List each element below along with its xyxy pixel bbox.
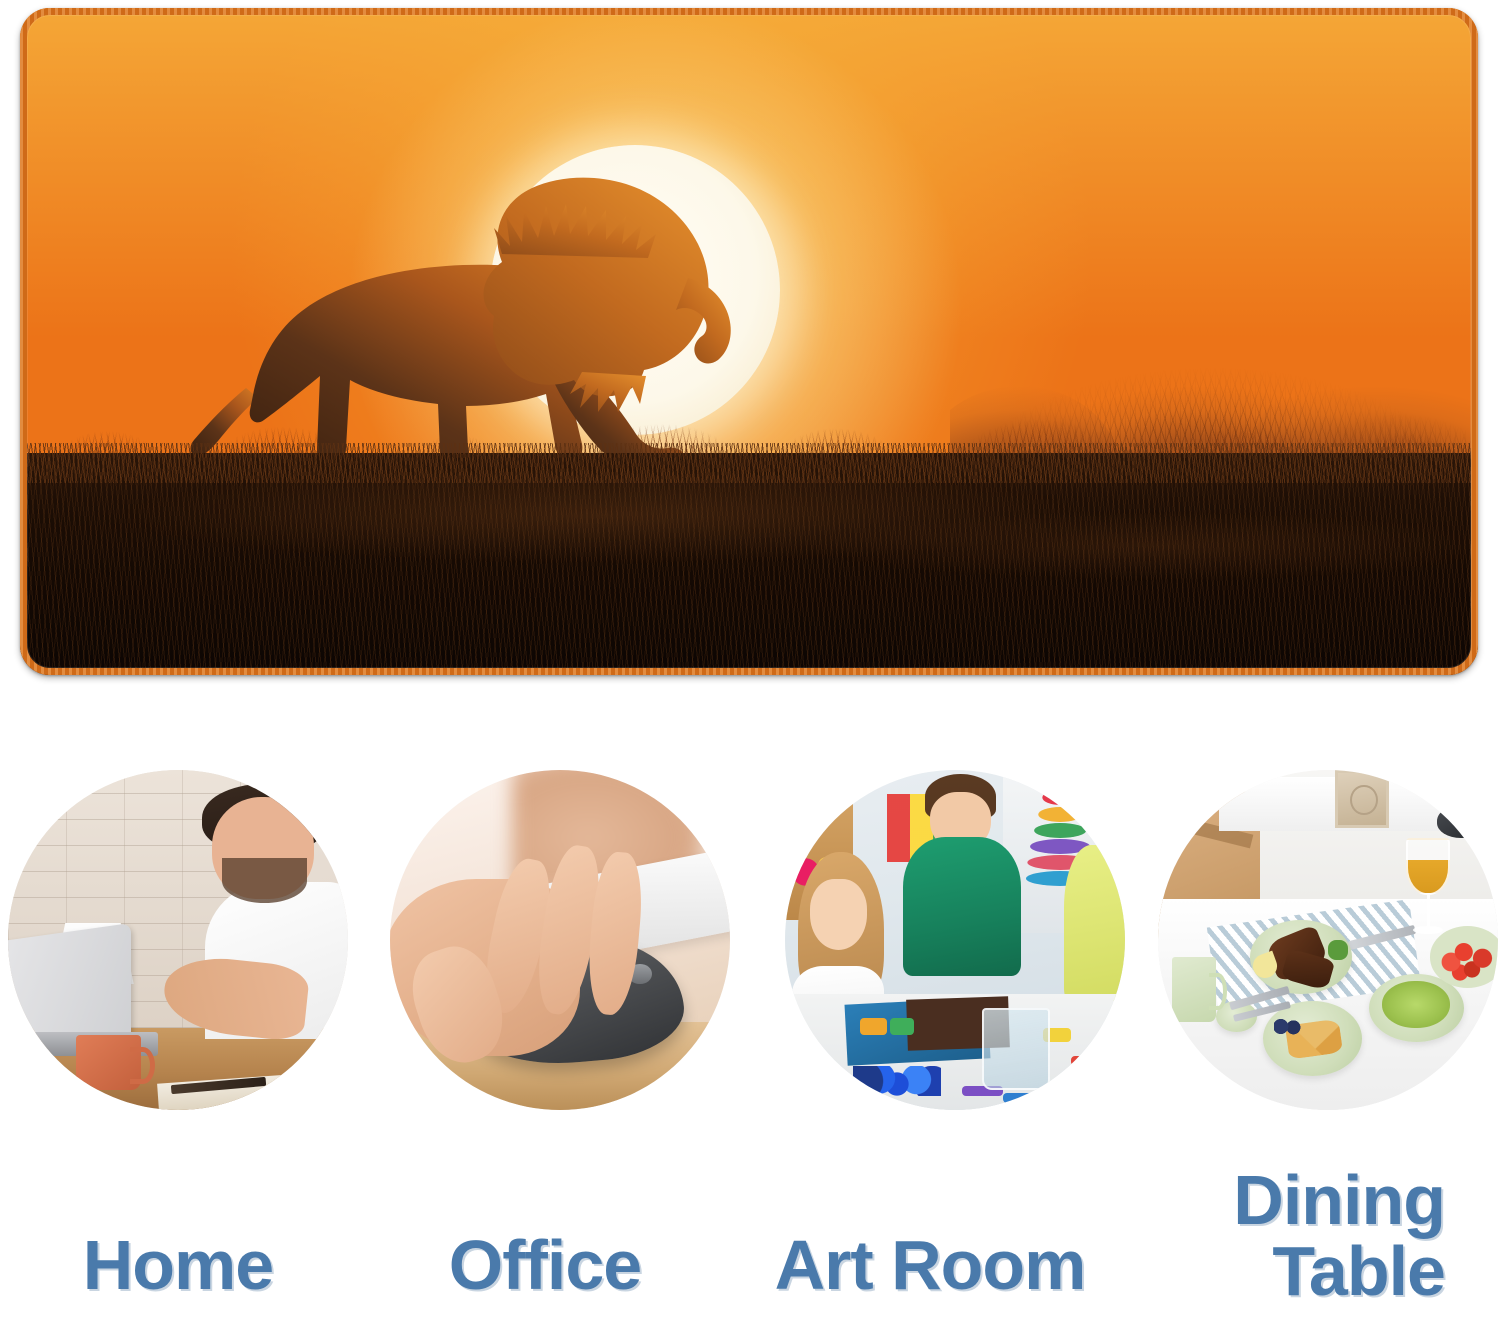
blue-paint-dots — [853, 1066, 941, 1097]
usage-scene-dining-table[interactable] — [1158, 770, 1498, 1110]
usage-scene-labels: Home Office Art Room Dining Table — [0, 1150, 1500, 1329]
clay-orange — [860, 1018, 887, 1035]
garnish-greens — [1328, 940, 1348, 960]
clay-green — [890, 1018, 914, 1035]
office-scene-photo — [390, 770, 730, 1110]
girl-face — [810, 879, 867, 950]
dark-decor-object — [1437, 804, 1491, 838]
label-office: Office — [380, 1230, 710, 1301]
boy-child — [901, 770, 1023, 994]
usage-scenes-row — [0, 770, 1500, 1140]
mousepad-product-image[interactable] — [20, 8, 1478, 675]
water-jar — [982, 1008, 1050, 1090]
wine-glass — [1406, 838, 1450, 940]
mans-beard — [222, 858, 307, 902]
label-art-room: Art Room — [760, 1230, 1100, 1301]
home-scene-photo — [8, 770, 348, 1110]
wine-glass-foot — [1413, 926, 1443, 934]
green-mug — [1172, 957, 1216, 1022]
boy-green-tshirt — [903, 837, 1020, 976]
dining-table-scene-photo — [1158, 770, 1498, 1110]
usage-scene-art-room[interactable] — [785, 770, 1125, 1110]
wine-glass-bowl — [1406, 838, 1450, 895]
marker-red — [1071, 1056, 1108, 1066]
dark-grass-foreground — [20, 453, 1478, 675]
marker-blue — [1003, 1093, 1047, 1103]
third-child-yellow-top — [1064, 845, 1125, 1001]
blueberries — [1274, 1018, 1301, 1035]
usage-scene-office[interactable] — [390, 770, 730, 1110]
picture-frame — [1335, 770, 1389, 828]
wine-glass-stem — [1427, 895, 1431, 928]
art-room-scene-photo — [785, 770, 1125, 1110]
label-home: Home — [0, 1230, 356, 1301]
green-salad — [1382, 981, 1450, 1029]
orange-mug — [76, 1035, 141, 1089]
usage-scene-home[interactable] — [8, 770, 348, 1110]
label-dining-table: Dining Table — [1100, 1165, 1445, 1308]
mousepad-hero-section — [0, 0, 1500, 700]
